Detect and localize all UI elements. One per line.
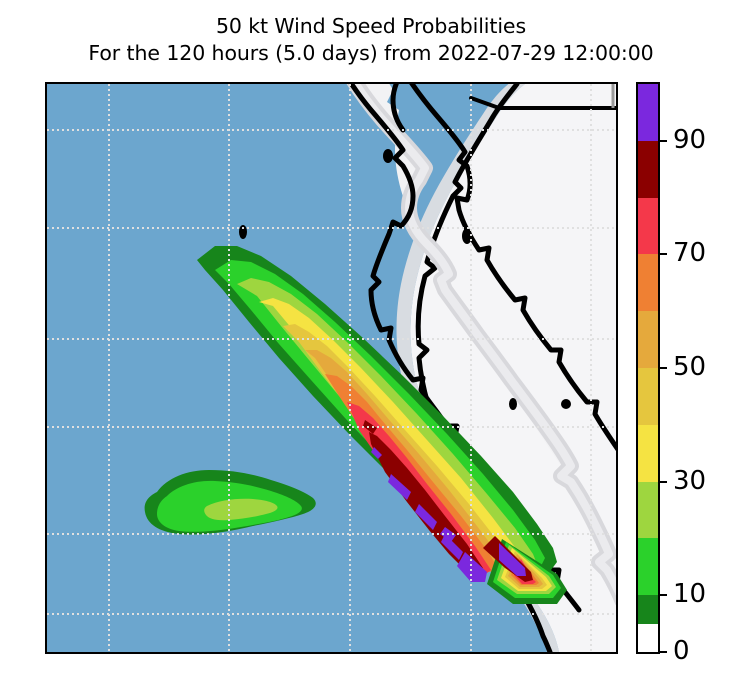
colorbar-tick-label: 10 <box>673 581 706 607</box>
colorbar-tick-label: 70 <box>673 240 706 266</box>
map-canvas <box>47 84 616 652</box>
tick-mark <box>660 481 667 483</box>
colorbar-tick-group: 01030507090 <box>660 82 742 654</box>
colorbar-band-5-10 <box>638 595 658 623</box>
tick-mark <box>660 594 667 596</box>
colorbar-tick-label: 50 <box>673 354 706 380</box>
tick-mark <box>660 651 667 653</box>
colorbar-band-90-100 <box>638 84 658 141</box>
colorbar-band-30-40 <box>638 425 658 482</box>
colorbar-band-20-30 <box>638 482 658 539</box>
tick-mark <box>660 140 667 142</box>
colorbar-tick-label: 30 <box>673 468 706 494</box>
colorbar-band-60-70 <box>638 254 658 311</box>
chart-title-block: 50 kt Wind Speed Probabilities For the 1… <box>0 0 742 66</box>
map-plot-area <box>45 82 618 654</box>
island-dot-5 <box>509 398 517 410</box>
colorbar-band-70-80 <box>638 198 658 255</box>
colorbar-tick-label: 90 <box>673 127 706 153</box>
tick-mark <box>660 253 667 255</box>
colorbar <box>636 82 660 654</box>
chart-subtitle: For the 120 hours (5.0 days) from 2022-0… <box>0 40 742 67</box>
page-title: 50 kt Wind Speed Probabilities <box>0 0 742 40</box>
island-dot-4 <box>561 399 571 409</box>
probability-map-svg <box>47 84 616 652</box>
island-dot-1 <box>383 149 393 163</box>
colorbar-band-0-5 <box>638 624 658 652</box>
tick-mark <box>660 367 667 369</box>
colorbar-band-40-50 <box>638 368 658 425</box>
colorbar-band-80-90 <box>638 141 658 198</box>
colorbar-band-10-20 <box>638 538 658 595</box>
colorbar-tick-label: 0 <box>673 638 690 664</box>
colorbar-band-50-60 <box>638 311 658 368</box>
